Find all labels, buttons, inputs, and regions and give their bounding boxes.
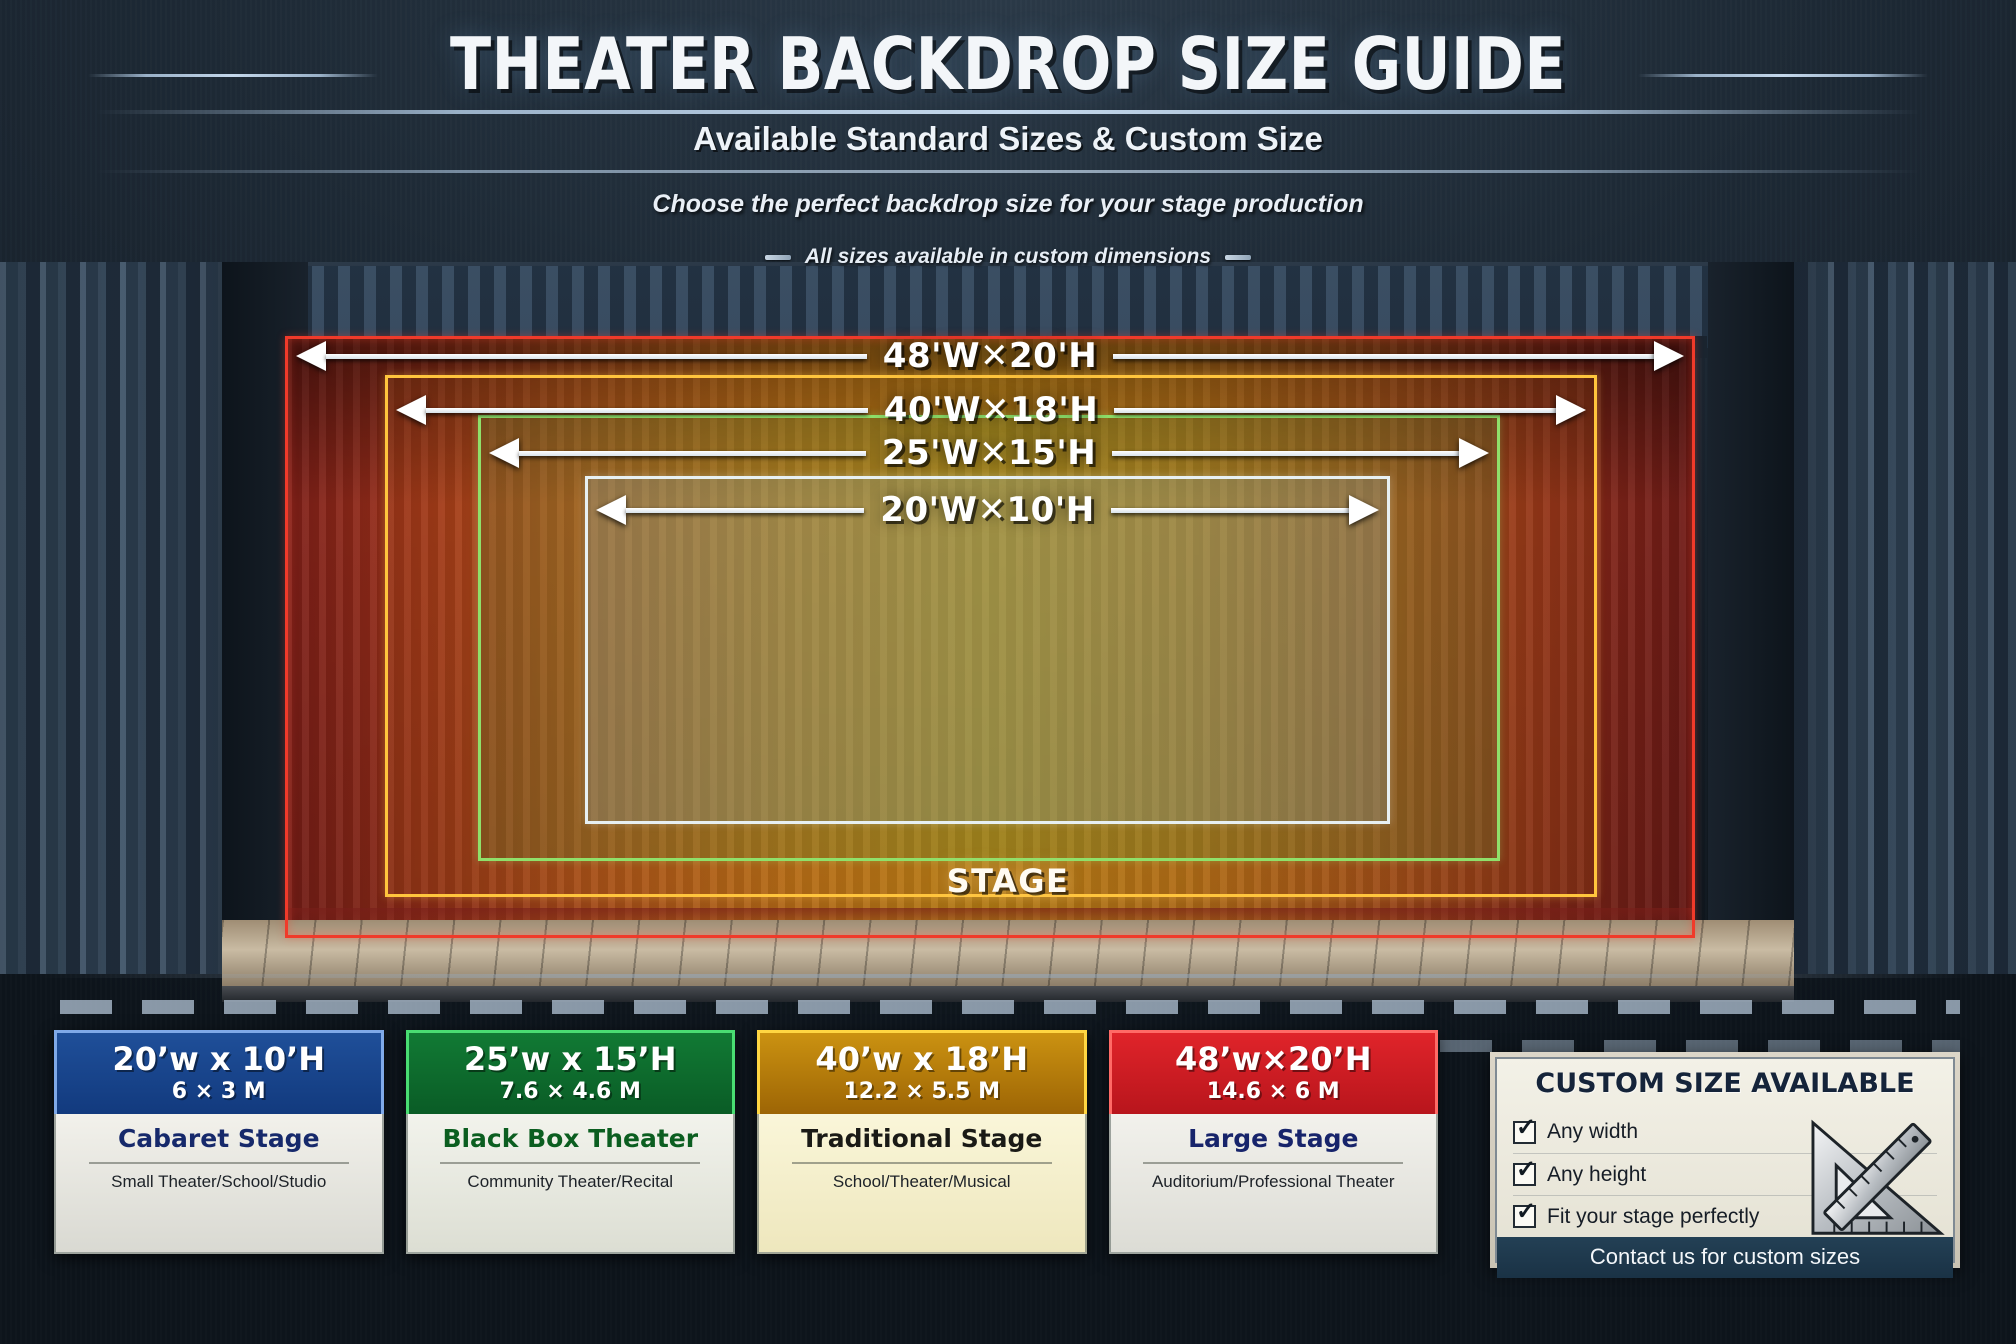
dimension-label: 20'W✕10'H (864, 490, 1110, 530)
card-divider (1143, 1162, 1403, 1164)
arrow-left-icon (489, 438, 519, 468)
poster-header: THEATER BACKDROP SIZE GUIDE Available St… (0, 0, 2016, 290)
custom-size-inner: CUSTOM SIZE AVAILABLE Any width Any heig… (1495, 1057, 1955, 1263)
arrow-shaft-right (1111, 508, 1349, 513)
card-divider (792, 1162, 1052, 1164)
size-card-cabaret-stage[interactable]: 20’w x 10’H 6 × 3 M Cabaret Stage Small … (54, 1030, 384, 1254)
seat-row-back (1440, 1040, 1960, 1052)
arrow-right-icon (1654, 341, 1684, 371)
dimension-arrow-20x10: 20'W✕10'H (596, 488, 1379, 532)
size-card-large-stage[interactable]: 48’w×20’H 14.6 × 6 M Large Stage Auditor… (1109, 1030, 1439, 1254)
card-header: 25’w x 15’H 7.6 × 4.6 M (406, 1030, 736, 1114)
card-metric: 14.6 × 6 M (1207, 1079, 1340, 1104)
dash-right-icon (1225, 255, 1251, 260)
card-header: 20’w x 10’H 6 × 3 M (54, 1030, 384, 1114)
card-metric: 6 × 3 M (172, 1079, 266, 1104)
arrow-shaft-left (326, 354, 867, 359)
card-dimension: 48’w×20’H (1175, 1043, 1372, 1077)
card-use-case: School/Theater/Musical (833, 1172, 1011, 1192)
arrow-left-icon (296, 341, 326, 371)
dash-left-icon (765, 255, 791, 260)
card-body: Traditional Stage School/Theater/Musical (757, 1114, 1087, 1254)
dimension-arrow-25x15: 25'W✕15'H (489, 431, 1489, 475)
size-card-traditional-stage[interactable]: 40’w x 18’H 12.2 × 5.5 M Traditional Sta… (757, 1030, 1087, 1254)
card-body: Large Stage Auditorium/Professional Thea… (1109, 1114, 1439, 1254)
dimension-label: 48'W✕20'H (867, 336, 1113, 376)
arrow-right-icon (1459, 438, 1489, 468)
card-header: 40’w x 18’H 12.2 × 5.5 M (757, 1030, 1087, 1114)
card-divider (440, 1162, 700, 1164)
page-title: THEATER BACKDROP SIZE GUIDE (71, 22, 1946, 106)
size-card-black-box-theater[interactable]: 25’w x 15’H 7.6 × 4.6 M Black Box Theate… (406, 1030, 736, 1254)
card-use-case: Auditorium/Professional Theater (1152, 1172, 1395, 1192)
header-divider-2 (96, 170, 1920, 173)
arrow-shaft-left (519, 451, 866, 456)
card-dimension: 25’w x 15’H (464, 1043, 677, 1077)
custom-size-panel[interactable]: CUSTOM SIZE AVAILABLE Any width Any heig… (1490, 1052, 1960, 1268)
arrow-shaft-right (1112, 451, 1459, 456)
feature-label: Any width (1547, 1120, 1638, 1144)
custom-size-title: CUSTOM SIZE AVAILABLE (1497, 1059, 1953, 1105)
arrow-shaft-right (1114, 408, 1556, 413)
checkbox-checked-icon[interactable] (1513, 1205, 1536, 1228)
stage-label: STAGE (0, 862, 2016, 900)
card-name: Black Box Theater (442, 1124, 698, 1153)
arrow-shaft-left (626, 508, 864, 513)
card-dimension: 20’w x 10’H (112, 1043, 325, 1077)
card-metric: 12.2 × 5.5 M (843, 1079, 1000, 1104)
card-header: 48’w×20’H 14.6 × 6 M (1109, 1030, 1439, 1114)
arrow-left-icon (396, 395, 426, 425)
card-use-case: Small Theater/School/Studio (111, 1172, 326, 1192)
arrow-right-icon (1556, 395, 1586, 425)
size-cards-row: 20’w x 10’H 6 × 3 M Cabaret Stage Small … (54, 1030, 1438, 1254)
orchestra-rail (40, 974, 1976, 978)
arrow-shaft-right (1113, 354, 1654, 359)
arrow-right-icon (1349, 495, 1379, 525)
theater-backdrop-size-guide-poster: THEATER BACKDROP SIZE GUIDE Available St… (0, 0, 2016, 1344)
card-name: Traditional Stage (801, 1124, 1042, 1153)
card-name: Large Stage (1188, 1124, 1358, 1153)
page-subtitle: Available Standard Sizes & Custom Size (0, 120, 2016, 158)
card-name: Cabaret Stage (118, 1124, 320, 1153)
arrow-left-icon (596, 495, 626, 525)
dimension-label: 25'W✕15'H (866, 433, 1112, 473)
custom-size-feature-list: Any width Any height Fit your stage perf… (1497, 1109, 1953, 1237)
feature-label: Any height (1547, 1163, 1646, 1187)
checkbox-checked-icon[interactable] (1513, 1163, 1536, 1186)
ruler-and-square-icon (1801, 1117, 1947, 1241)
custom-dimensions-note: All sizes available in custom dimensions (0, 245, 2016, 269)
card-divider (89, 1162, 349, 1164)
page-tagline: Choose the perfect backdrop size for you… (0, 190, 2016, 219)
card-body: Cabaret Stage Small Theater/School/Studi… (54, 1114, 384, 1254)
arrow-shaft-left (426, 408, 868, 413)
stage-wing-right (1708, 262, 1794, 962)
note-text: All sizes available in custom dimensions (805, 245, 1211, 269)
dimension-arrow-40x18: 40'W✕18'H (396, 388, 1586, 432)
card-dimension: 40’w x 18’H (815, 1043, 1028, 1077)
feature-label: Fit your stage perfectly (1547, 1205, 1759, 1229)
seat-row-front (60, 1000, 1960, 1014)
header-divider-1 (96, 110, 1920, 114)
dimension-arrow-48x20: 48'W✕20'H (296, 334, 1684, 378)
custom-size-footer[interactable]: Contact us for custom sizes (1497, 1237, 1953, 1278)
checkbox-checked-icon[interactable] (1513, 1121, 1536, 1144)
dimension-label: 40'W✕18'H (868, 390, 1114, 430)
card-use-case: Community Theater/Recital (467, 1172, 673, 1192)
card-body: Black Box Theater Community Theater/Reci… (406, 1114, 736, 1254)
card-metric: 7.6 × 4.6 M (500, 1079, 641, 1104)
